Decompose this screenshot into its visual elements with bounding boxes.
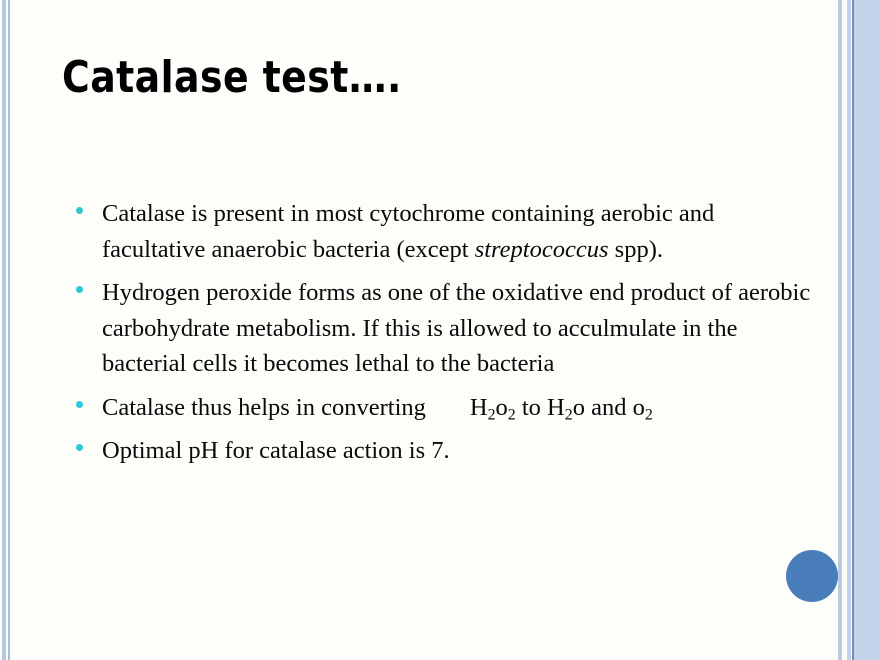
bullet-1-italic-term: streptococcus (475, 236, 609, 263)
formula-o3-sub: 2 (645, 406, 653, 423)
bullet-dot-icon (76, 286, 83, 293)
formula-h2: H (547, 394, 565, 421)
formula-o3: o (633, 394, 645, 421)
right-border-rule-outer (838, 0, 842, 660)
decorative-circle (786, 550, 838, 602)
list-item-text: Hydrogen peroxide forms as one of the ox… (102, 275, 822, 382)
chemical-formula: H2o2 to H2o and o2 (470, 394, 653, 421)
list-item-text: Catalase thus helps in convertingH2o2 to… (102, 390, 822, 426)
formula-o1-sub: 2 (508, 406, 516, 423)
formula-o2: o (573, 394, 585, 421)
left-border-rule-inner (8, 0, 10, 660)
list-item: Hydrogen peroxide forms as one of the ox… (62, 275, 822, 382)
right-border-rule-middle (847, 0, 851, 660)
formula-h1-sub: 2 (488, 406, 496, 423)
formula-and: and (585, 394, 633, 421)
formula-o1: o (496, 394, 508, 421)
slide-title: Catalase test…. (62, 52, 698, 104)
bullet-dot-icon (76, 444, 83, 451)
list-item-text: Catalase is present in most cytochrome c… (102, 196, 822, 267)
formula-to: to (516, 394, 547, 421)
list-item: Catalase is present in most cytochrome c… (62, 196, 822, 267)
right-decorative-band (854, 0, 880, 660)
list-item-text: Optimal pH for catalase action is 7. (102, 433, 822, 469)
left-border-rule-outer (2, 0, 6, 660)
bullet-1-suffix: spp). (609, 236, 663, 263)
formula-h2-sub: 2 (565, 406, 573, 423)
slide-body-content: Catalase is present in most cytochrome c… (62, 196, 822, 477)
slide-canvas: Catalase test…. Catalase is present in m… (0, 0, 880, 660)
list-item: Catalase thus helps in convertingH2o2 to… (62, 390, 822, 426)
bullet-dot-icon (76, 207, 83, 214)
bullet-3-lead: Catalase thus helps in converting (102, 394, 426, 421)
formula-h1: H (470, 394, 488, 421)
bullet-dot-icon (76, 401, 83, 408)
list-item: Optimal pH for catalase action is 7. (62, 433, 822, 469)
